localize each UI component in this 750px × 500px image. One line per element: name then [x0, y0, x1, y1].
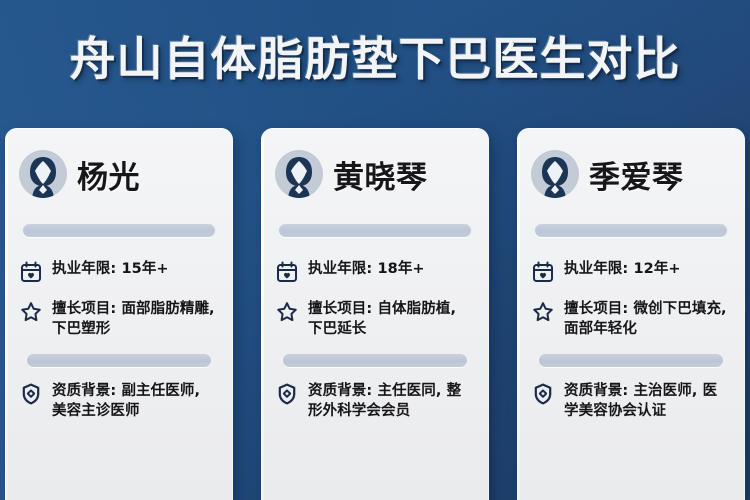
credentials-row: 资质背景: 主治医师, 医学美容协会认证 — [531, 381, 731, 421]
shield-badge-icon — [19, 382, 43, 406]
placeholder-bar-bottom — [27, 354, 211, 367]
placeholder-bar — [535, 224, 727, 237]
doctor-name: 季爱琴 — [589, 152, 684, 197]
credentials-row: 资质背景: 主任医同, 整形外科学会会员 — [275, 381, 475, 421]
page-title-wrap: 舟山自体脂肪垫下巴医生对比 — [0, 34, 750, 86]
years-row: 执业年限: 15年+ — [19, 259, 219, 284]
doctor-name: 杨光 — [77, 152, 140, 197]
calendar-heart-icon — [531, 260, 555, 284]
female-doctor-avatar-icon — [19, 150, 67, 198]
star-icon — [531, 300, 555, 324]
doctor-card-header: 黄晓琴 — [275, 144, 475, 204]
female-doctor-avatar-icon — [275, 150, 323, 198]
doctor-card-header: 季爱琴 — [531, 144, 731, 204]
star-icon — [275, 300, 299, 324]
placeholder-bar — [279, 224, 471, 237]
doctor-detail-rows: 执业年限: 12年+ 擅长项目: 微创下巴填充, 面部年轻化 — [531, 259, 731, 339]
years-row: 执业年限: 12年+ — [531, 259, 731, 284]
years-text: 执业年限: 15年+ — [52, 259, 169, 279]
credentials-text: 资质背景: 主任医同, 整形外科学会会员 — [308, 381, 475, 421]
placeholder-bar-bottom — [283, 354, 467, 367]
specialty-row: 擅长项目: 面部脂肪精雕, 下巴塑形 — [19, 299, 219, 339]
calendar-heart-icon — [19, 260, 43, 284]
placeholder-bar-bottom — [539, 354, 723, 367]
credentials-row: 资质背景: 副主任医师, 美容主诊医师 — [19, 381, 219, 421]
specialty-text: 擅长项目: 自体脂肪植, 下巴延长 — [308, 299, 475, 339]
doctor-name: 黄晓琴 — [333, 152, 428, 197]
shield-badge-icon — [531, 382, 555, 406]
doctor-card-list: 杨光 执业年限: 15年+ — [0, 128, 750, 500]
doctor-detail-rows: 执业年限: 18年+ 擅长项目: 自体脂肪植, 下巴延长 — [275, 259, 475, 339]
credentials-text: 资质背景: 主治医师, 医学美容协会认证 — [564, 381, 731, 421]
doctor-card-header: 杨光 — [19, 144, 219, 204]
placeholder-bar-slot — [279, 354, 471, 367]
placeholder-bar-slot — [23, 354, 215, 367]
years-text: 执业年限: 12年+ — [564, 259, 681, 279]
credentials-text: 资质背景: 副主任医师, 美容主诊医师 — [52, 381, 219, 421]
doctor-card[interactable]: 黄晓琴 执业年限: 18年+ — [261, 128, 489, 500]
doctor-card[interactable]: 季爱琴 执业年限: 12年+ — [517, 128, 745, 500]
years-row: 执业年限: 18年+ — [275, 259, 475, 284]
shield-badge-icon — [275, 382, 299, 406]
doctor-detail-rows: 执业年限: 15年+ 擅长项目: 面部脂肪精雕, 下巴塑形 — [19, 259, 219, 339]
specialty-text: 擅长项目: 微创下巴填充, 面部年轻化 — [564, 299, 731, 339]
placeholder-bar — [23, 224, 215, 237]
doctor-card[interactable]: 杨光 执业年限: 15年+ — [5, 128, 233, 500]
specialty-row: 擅长项目: 自体脂肪植, 下巴延长 — [275, 299, 475, 339]
specialty-row: 擅长项目: 微创下巴填充, 面部年轻化 — [531, 299, 731, 339]
poster-root: 舟山自体脂肪垫下巴医生对比 杨光 — [0, 0, 750, 500]
star-icon — [19, 300, 43, 324]
calendar-heart-icon — [275, 260, 299, 284]
page-title: 舟山自体脂肪垫下巴医生对比 — [70, 34, 681, 86]
placeholder-bar-slot — [535, 354, 727, 367]
years-text: 执业年限: 18年+ — [308, 259, 425, 279]
female-doctor-avatar-icon — [531, 150, 579, 198]
specialty-text: 擅长项目: 面部脂肪精雕, 下巴塑形 — [52, 299, 219, 339]
